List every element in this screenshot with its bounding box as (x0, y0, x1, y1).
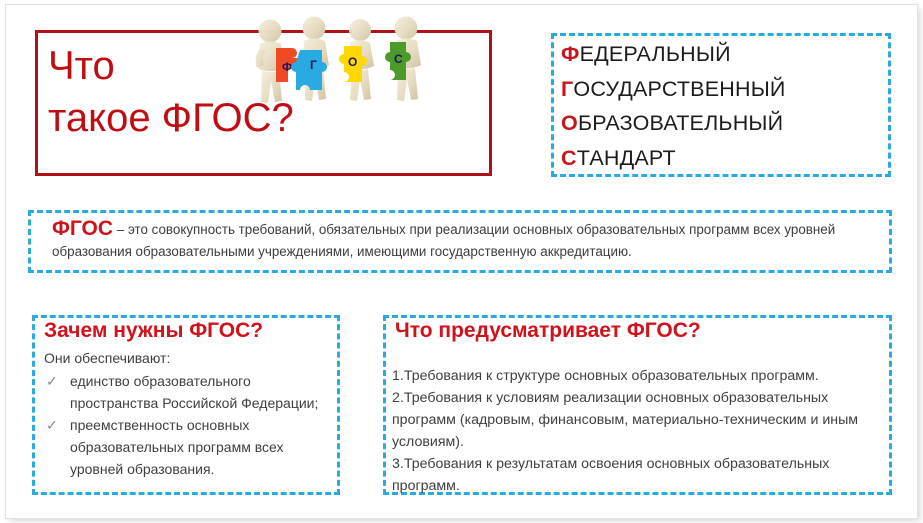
definition-panel: ФГОС – это совокупность требований, обяз… (28, 210, 892, 273)
slide-canvas: Что такое ФГОС? (0, 0, 923, 523)
acronym-cap-o: О (561, 111, 578, 135)
definition-text: ФГОС – это совокупность требований, обяз… (52, 218, 880, 263)
svg-text:С: С (394, 52, 403, 66)
svg-text:Ф: Ф (282, 60, 292, 74)
check-icon: ✓ (46, 414, 58, 436)
acronym-line-state: ГОСУДАРСТВЕННЫЙ (561, 72, 886, 107)
acronym-rest-s: ТАНДАРТ (577, 146, 676, 170)
puzzle-piece-g: Г (291, 50, 327, 90)
definition-body: – это совокупность требований, обязатель… (52, 222, 835, 259)
acronym-line-federal: ФЕДЕРАЛЬНЫЙ (561, 37, 886, 72)
list-item: 3.Требования к результатам освоения осно… (392, 453, 887, 497)
definition-term: ФГОС (52, 217, 113, 240)
what-heading: Что предусматривает ФГОС? (395, 319, 701, 343)
list-item: 1.Требования к структуре основных образо… (392, 365, 887, 387)
svg-text:О: О (348, 55, 357, 69)
acronym-panel: ФЕДЕРАЛЬНЫЙ ГОСУДАРСТВЕННЫЙ ОБРАЗОВАТЕЛЬ… (551, 33, 891, 177)
acronym-line-standard: СТАНДАРТ (561, 141, 886, 176)
acronym-cap-g: Г (561, 77, 573, 101)
acronym-rest-f: ЕДЕРАЛЬНЫЙ (580, 42, 731, 66)
list-item: 2.Требования к условиям реализации основ… (392, 387, 887, 453)
why-heading: Зачем нужны ФГОС? (44, 319, 263, 343)
acronym-cap-f: Ф (561, 42, 580, 66)
svg-text:Г: Г (310, 58, 317, 72)
acronym-line-educational: ОБРАЗОВАТЕЛЬНЫЙ (561, 106, 886, 141)
why-item-text: преемственность основных образовательных… (70, 417, 283, 477)
acronym-cap-s: С (561, 146, 577, 170)
acronym-rest-o: БРАЗОВАТЕЛЬНЫЙ (578, 111, 783, 135)
why-item-text: единство образовательного пространства Р… (70, 373, 318, 411)
why-list: ✓единство образовательного пространства … (42, 370, 334, 480)
what-list: 1.Требования к структуре основных образо… (392, 365, 887, 497)
acronym-list: ФЕДЕРАЛЬНЫЙ ГОСУДАРСТВЕННЫЙ ОБРАЗОВАТЕЛЬ… (561, 37, 886, 175)
list-item: ✓единство образовательного пространства … (42, 370, 334, 414)
list-item: ✓преемственность основных образовательны… (42, 414, 334, 480)
why-panel: Зачем нужны ФГОС? Они обеспечивают: ✓еди… (32, 315, 340, 495)
check-icon: ✓ (46, 370, 58, 392)
why-lead-text: Они обеспечивают: (44, 348, 170, 368)
what-panel: Что предусматривает ФГОС? 1.Требования к… (383, 315, 892, 495)
puzzle-people-icon: Ф Г О С (248, 14, 440, 114)
acronym-rest-g: ОСУДАРСТВЕННЫЙ (573, 77, 785, 101)
